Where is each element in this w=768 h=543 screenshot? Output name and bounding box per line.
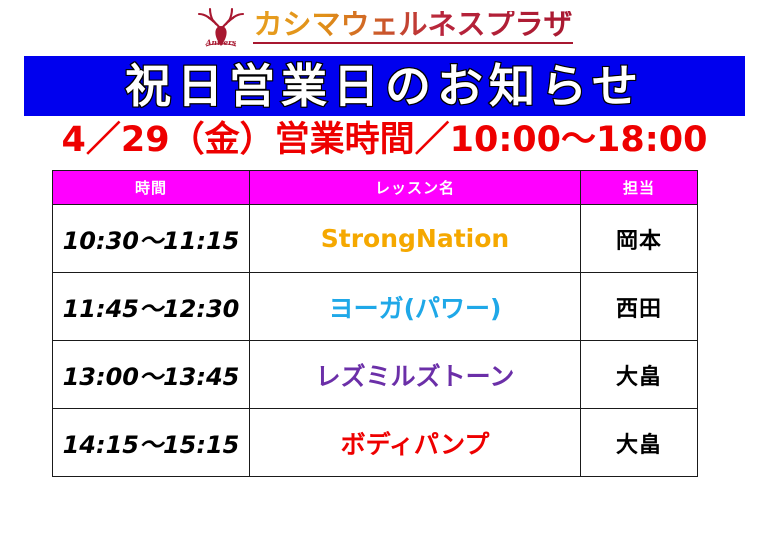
business-hours-line: 4／29（金）営業時間／10:00〜18:00 [24,118,745,162]
cell-lesson: ボディパンプ [250,409,581,477]
deer-antler-icon: Antlers [195,2,247,52]
cell-time: 13:00〜13:45 [53,341,250,409]
cell-time: 14:15〜15:15 [53,409,250,477]
business-hours-text: 4／29（金）営業時間／10:00〜18:00 [62,123,708,158]
logo-row: Antlers カシマウェルネスプラザ [0,0,768,54]
cell-staff: 大畠 [581,409,698,477]
headline-banner: 祝日営業日のお知らせ [24,56,745,116]
column-header-lesson: レッスン名 [250,171,581,205]
cell-staff: 大畠 [581,341,698,409]
cell-lesson: レズミルズトーン [250,341,581,409]
page-title: 祝日営業日のお知らせ [125,63,644,109]
table-row: 11:45〜12:30 ヨーガ(パワー) 西田 [53,273,698,341]
column-header-time: 時間 [53,171,250,205]
logo-wordmark-wrap: カシマウェルネスプラザ [253,11,572,44]
logo-wordmark: カシマウェルネスプラザ [253,11,572,40]
table-row: 13:00〜13:45 レズミルズトーン 大畠 [53,341,698,409]
table-row: 10:30〜11:15 StrongNation 岡本 [53,205,698,273]
logo-script-text: Antlers [205,38,237,47]
table-header: 時間 レッスン名 担当 [53,171,698,205]
cell-staff: 岡本 [581,205,698,273]
table-row: 14:15〜15:15 ボディパンプ 大畠 [53,409,698,477]
cell-lesson: ヨーガ(パワー) [250,273,581,341]
table-body: 10:30〜11:15 StrongNation 岡本 11:45〜12:30 … [53,205,698,477]
cell-staff: 西田 [581,273,698,341]
cell-time: 10:30〜11:15 [53,205,250,273]
column-header-staff: 担当 [581,171,698,205]
logo-underline [253,42,572,44]
lesson-schedule-table: 時間 レッスン名 担当 10:30〜11:15 StrongNation 岡本 … [52,170,698,477]
cell-lesson: StrongNation [250,205,581,273]
table-header-row: 時間 レッスン名 担当 [53,171,698,205]
cell-time: 11:45〜12:30 [53,273,250,341]
